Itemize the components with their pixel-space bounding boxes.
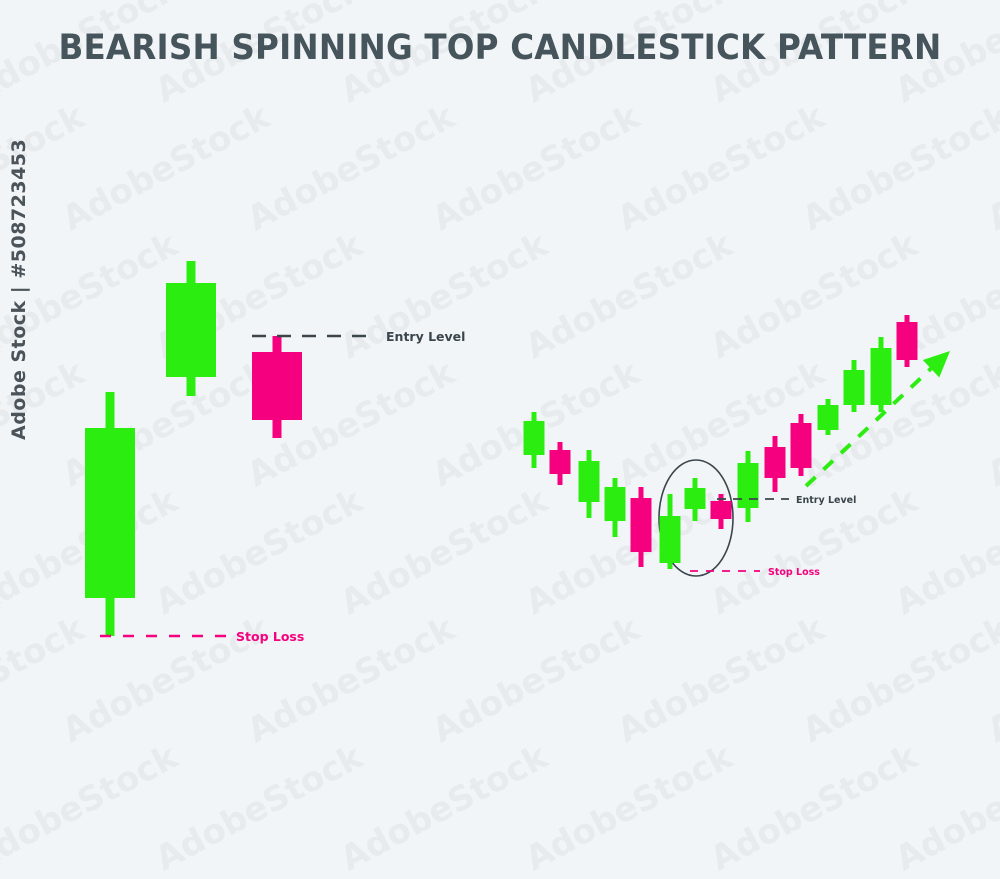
watermark-text: AdobeStock (0, 737, 184, 879)
candle-body (579, 461, 600, 502)
watermark-text: AdobeStock (889, 737, 1000, 879)
candle-body (871, 348, 892, 405)
candle-body (818, 405, 839, 430)
poster-canvas: AdobeStockAdobeStockAdobeStockAdobeStock… (0, 0, 1000, 714)
candlestick-charts: Entry LevelStop LossEntry LevelStop Loss (0, 0, 1000, 714)
candle-pattern-in-trend-14[interactable] (871, 337, 892, 412)
candle-pattern-closeup-2[interactable] (166, 261, 216, 396)
candle-body (166, 283, 216, 377)
chart-pattern-in-trend: Entry LevelStop Loss (524, 315, 951, 578)
candle-pattern-in-trend-6[interactable] (660, 494, 681, 569)
candle-pattern-in-trend-2[interactable] (550, 442, 571, 485)
watermark-text: AdobeStock (704, 737, 924, 879)
candle-pattern-in-trend-1[interactable] (524, 412, 545, 468)
candle-body (252, 352, 302, 420)
candle-pattern-in-trend-3[interactable] (579, 450, 600, 518)
candle-body (897, 322, 918, 360)
candle-pattern-in-trend-10[interactable] (765, 436, 786, 492)
stop-loss-label: Stop Loss (236, 629, 304, 644)
candle-pattern-in-trend-15[interactable] (897, 315, 918, 367)
entry-level-label: Entry Level (796, 495, 856, 506)
candle-pattern-closeup-3[interactable] (252, 336, 302, 438)
candle-body (738, 463, 759, 508)
candle-body (605, 487, 626, 521)
trend-arrow-head (923, 351, 950, 378)
stop-loss-label: Stop Loss (768, 567, 820, 578)
candle-body (631, 498, 652, 552)
candle-pattern-in-trend-9[interactable] (738, 451, 759, 522)
candle-body (765, 447, 786, 478)
candle-pattern-in-trend-12[interactable] (818, 399, 839, 435)
candle-pattern-in-trend-5[interactable] (631, 487, 652, 567)
candle-pattern-in-trend-7[interactable] (685, 478, 706, 521)
candle-pattern-in-trend-11[interactable] (791, 414, 812, 476)
candle-body (844, 370, 865, 405)
watermark-text: AdobeStock (334, 737, 554, 879)
entry-level-label: Entry Level (386, 329, 465, 344)
candle-body (85, 428, 135, 598)
candle-pattern-in-trend-13[interactable] (844, 360, 865, 412)
candle-body (524, 421, 545, 455)
watermark-text: AdobeStock (519, 737, 739, 879)
chart-pattern-closeup: Entry LevelStop Loss (85, 261, 465, 644)
candle-pattern-in-trend-4[interactable] (605, 478, 626, 537)
candle-body (711, 501, 732, 519)
candle-body (791, 423, 812, 468)
candle-body (685, 488, 706, 509)
candle-pattern-closeup-1[interactable] (85, 392, 135, 636)
candle-body (550, 450, 571, 474)
watermark-text: AdobeStock (149, 737, 369, 879)
candle-body (660, 516, 681, 563)
